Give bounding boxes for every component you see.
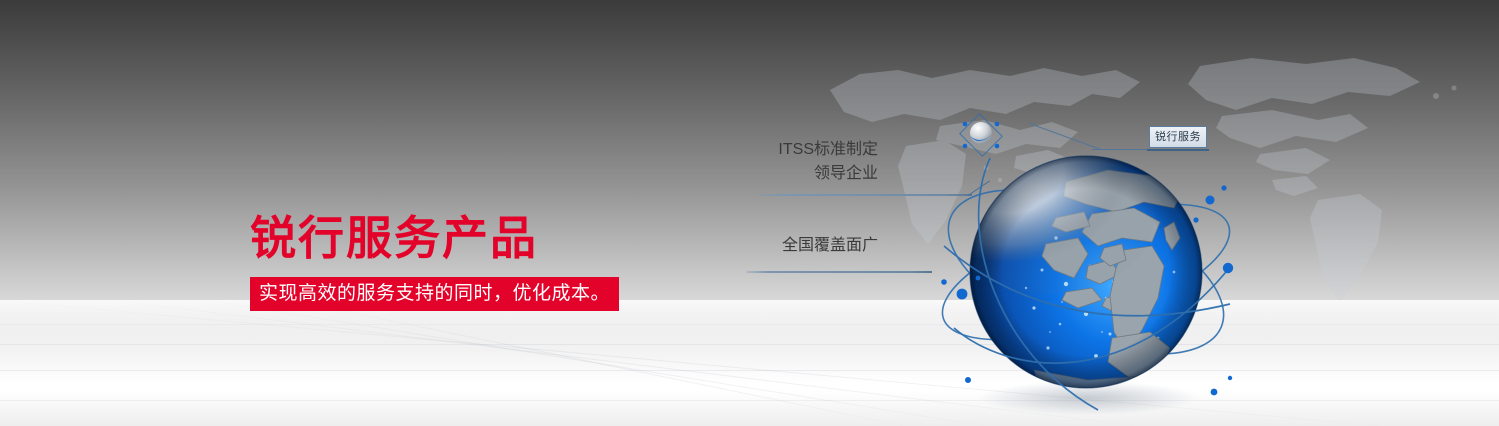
callout-itss-line2: 领导企业	[700, 162, 878, 186]
callout-coverage: 全国覆盖面广	[700, 234, 878, 258]
callout-itss: ITSS标准制定 领导企业	[700, 138, 878, 186]
callout-coverage-line1: 全国覆盖面广	[700, 234, 878, 258]
perspective-floor-grid	[0, 300, 1499, 426]
promo-banner: 锐行服务产品 实现高效的服务支持的同时，优化成本。 ITSS标准制定 领导企业 …	[0, 0, 1499, 426]
globe-illustration	[938, 142, 1238, 422]
callout-coverage-rule	[746, 271, 932, 273]
callout-itss-line1: ITSS标准制定	[700, 138, 878, 162]
page-title: 锐行服务产品	[250, 214, 538, 262]
subtitle-bar: 实现高效的服务支持的同时，优化成本。	[250, 277, 619, 311]
